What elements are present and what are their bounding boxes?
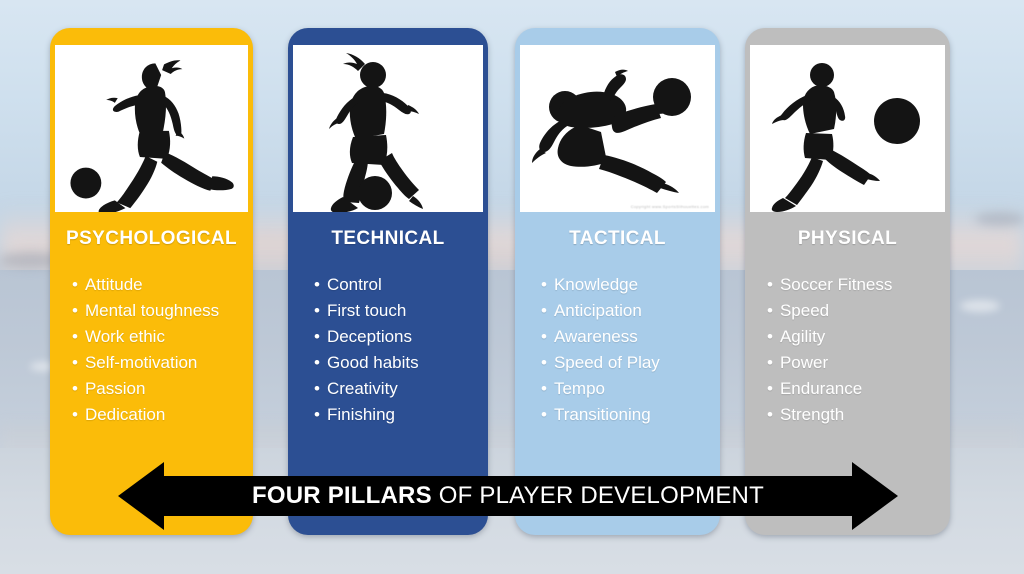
list-item: Control bbox=[314, 272, 488, 298]
list-item: First touch bbox=[314, 298, 488, 324]
pillar-image-physical bbox=[750, 45, 945, 212]
list-item: Soccer Fitness bbox=[767, 272, 950, 298]
list-item: Good habits bbox=[314, 350, 488, 376]
four-pillars-banner: FOUR PILLARSOF PLAYER DEVELOPMENT bbox=[118, 458, 898, 534]
list-item: Work ethic bbox=[72, 324, 253, 350]
pillar-title-technical: TECHNICAL bbox=[288, 212, 488, 258]
list-item: Speed bbox=[767, 298, 950, 324]
pillar-image-psychological bbox=[55, 45, 248, 212]
list-item: Attitude bbox=[72, 272, 253, 298]
list-item: Passion bbox=[72, 376, 253, 402]
soccer-player-kicking-silhouette bbox=[55, 45, 248, 212]
soccer-player-shooting-silhouette bbox=[750, 45, 945, 212]
double-headed-arrow-icon bbox=[118, 458, 898, 534]
pillar-title-psychological: PSYCHOLOGICAL bbox=[50, 212, 253, 258]
list-item: Mental toughness bbox=[72, 298, 253, 324]
list-item: Anticipation bbox=[541, 298, 720, 324]
pillar-image-tactical: Copyright www.SportsSilhouettes.com bbox=[520, 45, 715, 212]
list-item: Endurance bbox=[767, 376, 950, 402]
background-speck bbox=[975, 212, 1024, 226]
list-item: Speed of Play bbox=[541, 350, 720, 376]
image-watermark: Copyright www.SportsSilhouettes.com bbox=[631, 204, 709, 209]
pillar-image-technical bbox=[293, 45, 483, 212]
soccer-player-dribbling-silhouette bbox=[293, 45, 483, 212]
pillar-title-tactical: TACTICAL bbox=[515, 212, 720, 258]
list-item: Creativity bbox=[314, 376, 488, 402]
list-item: Awareness bbox=[541, 324, 720, 350]
soccer-player-volley-silhouette bbox=[520, 45, 715, 212]
list-item: Self-motivation bbox=[72, 350, 253, 376]
list-item: Dedication bbox=[72, 402, 253, 428]
background-speck bbox=[960, 300, 1000, 312]
list-item: Tempo bbox=[541, 376, 720, 402]
list-item: Deceptions bbox=[314, 324, 488, 350]
list-item: Agility bbox=[767, 324, 950, 350]
list-item: Strength bbox=[767, 402, 950, 428]
list-item: Knowledge bbox=[541, 272, 720, 298]
list-item: Power bbox=[767, 350, 950, 376]
pillar-title-physical: PHYSICAL bbox=[745, 212, 950, 258]
list-item: Finishing bbox=[314, 402, 488, 428]
list-item: Transitioning bbox=[541, 402, 720, 428]
